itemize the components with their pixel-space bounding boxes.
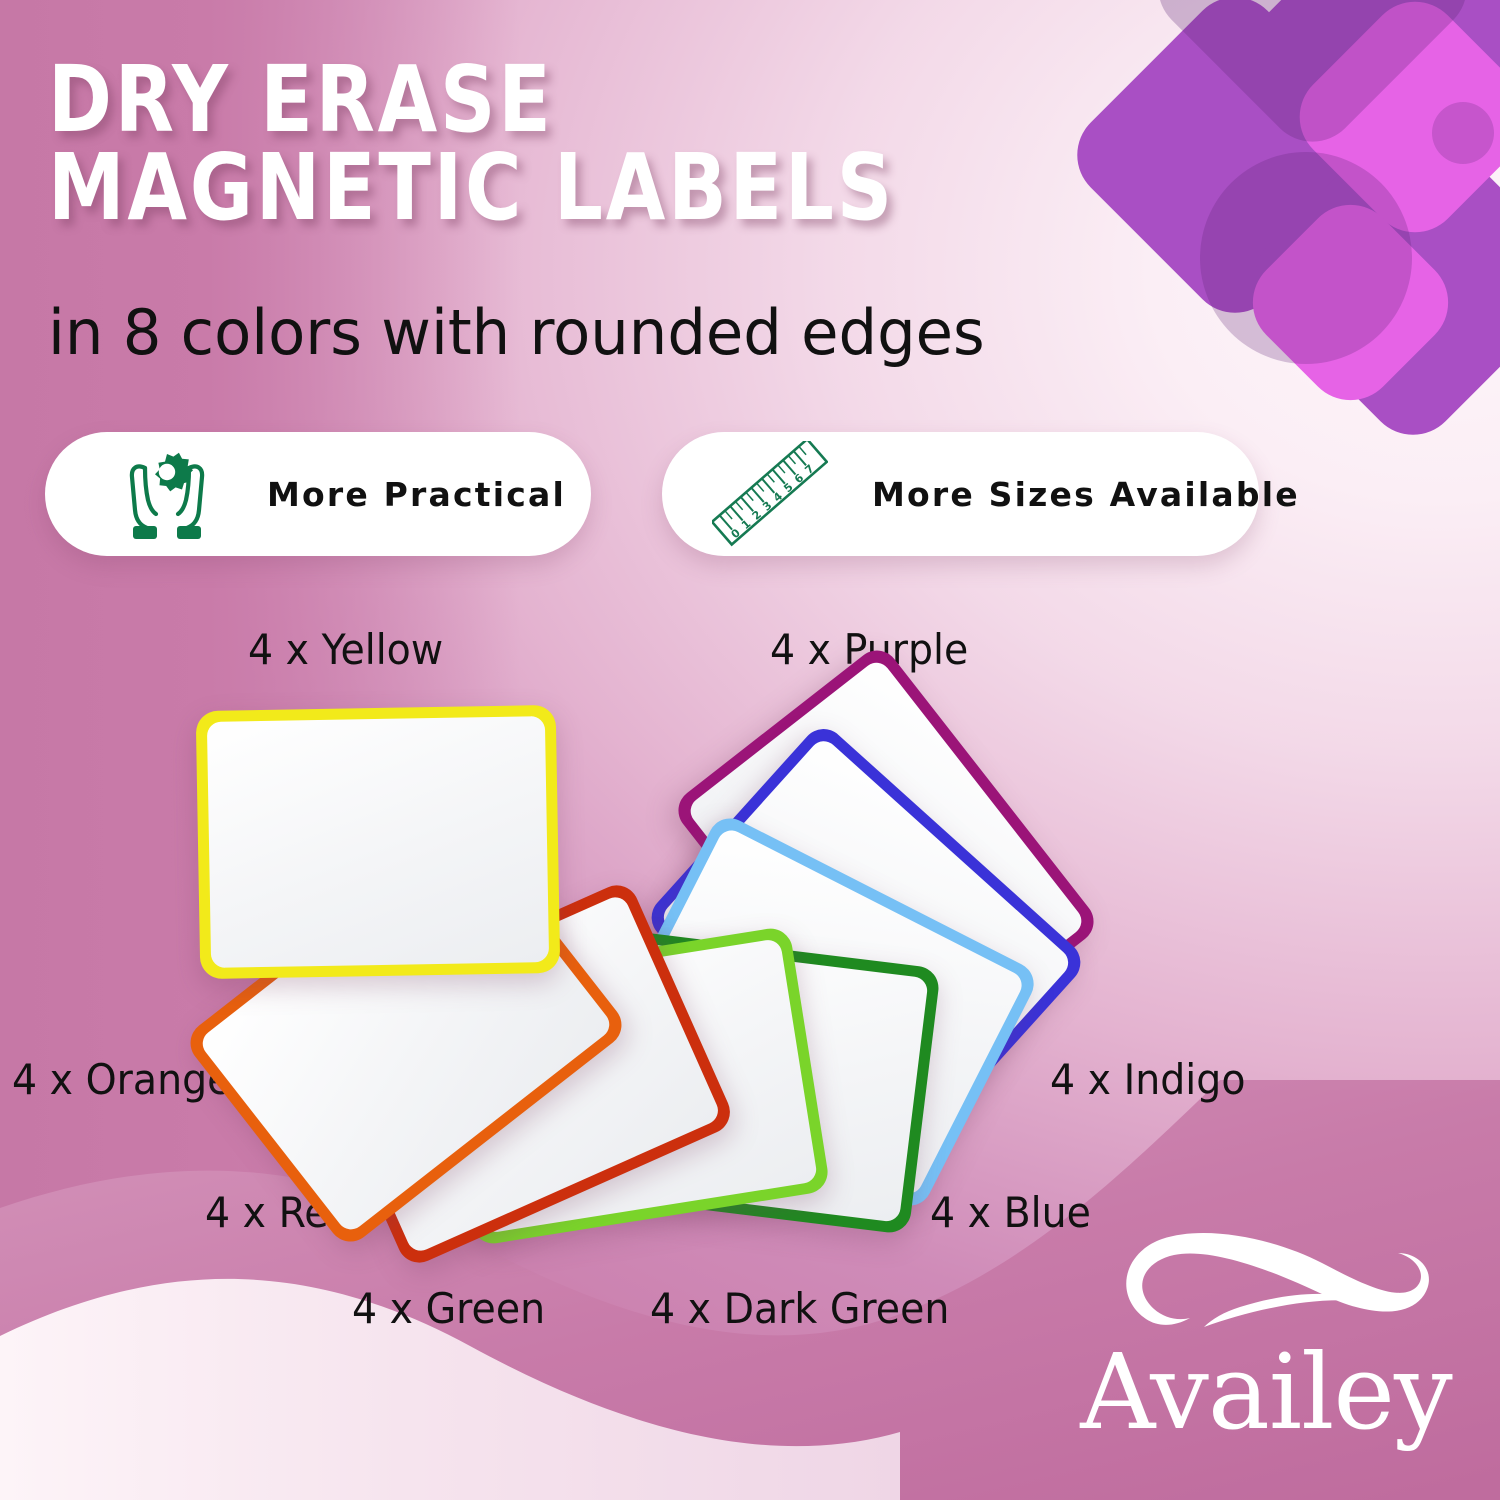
headline-line-2: MAGNETIC LABELS (48, 144, 895, 232)
hands-holding-gear-icon (115, 446, 219, 542)
board-writing-surface (207, 716, 549, 968)
feature-badge-practical-label: More Practical (267, 475, 566, 514)
ruler-icon: 0 1 2 3 4 5 6 7 (712, 441, 828, 547)
decorative-shapes-cluster (1020, 0, 1500, 450)
circle-shape-icon (1200, 152, 1412, 364)
feature-badge-sizes-label: More Sizes Available (872, 475, 1300, 514)
brand-logo: Availey (1066, 1229, 1466, 1444)
circle-shape-icon (1432, 102, 1494, 164)
diamond-overlay-shape-icon (1139, 0, 1485, 161)
page-title: DRY ERASE MAGNETIC LABELS (48, 56, 895, 233)
brand-name: Availey (1066, 1340, 1466, 1444)
diamond-shape-icon (1281, 0, 1500, 251)
feature-badge-practical[interactable]: More Practical (45, 432, 591, 556)
color-caption-yellow: 4 x Yellow (248, 625, 443, 674)
poster-canvas: DRY ERASE MAGNETIC LABELS in 8 colors wi… (0, 0, 1500, 1500)
diamond-shape-icon (1236, 100, 1500, 454)
diamond-shape-icon (1236, 0, 1500, 222)
diamond-shape-icon (1234, 186, 1467, 419)
swoosh-flourish-icon (1108, 1223, 1438, 1341)
color-caption-green: 4 x Green (352, 1284, 545, 1333)
feature-badge-sizes[interactable]: 0 1 2 3 4 5 6 7 More Sizes Available (662, 432, 1259, 556)
color-caption-dark-green: 4 x Dark Green (650, 1284, 949, 1333)
color-caption-orange: 4 x Orange (12, 1055, 231, 1104)
diamond-shape-icon (1415, 0, 1500, 15)
color-caption-indigo: 4 x Indigo (1050, 1055, 1246, 1104)
page-subtitle: in 8 colors with rounded edges (48, 296, 985, 369)
diamond-shape-icon (1058, 0, 1412, 332)
product-board-yellow (196, 705, 561, 979)
